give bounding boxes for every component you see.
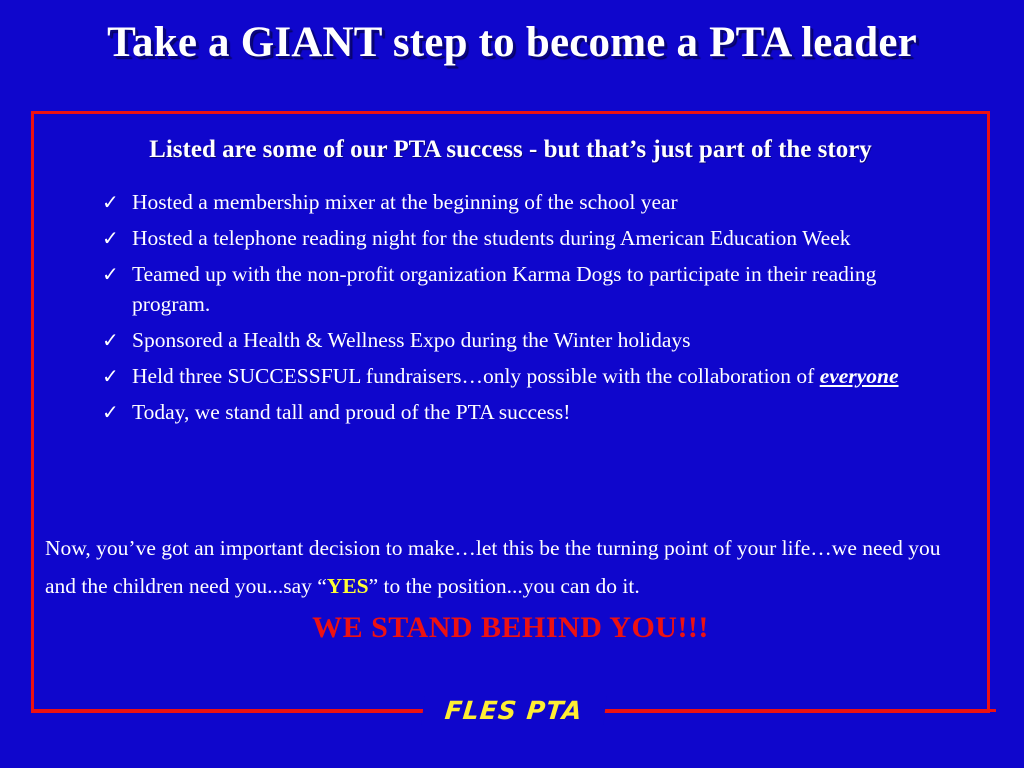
check-mark-icon: ✓ bbox=[102, 397, 132, 427]
emphasis-everyone: everyone bbox=[820, 364, 899, 388]
closing-highlight-yes: YES bbox=[327, 574, 369, 598]
call-to-action: WE STAND BEHIND YOU!!! bbox=[34, 611, 987, 645]
list-item: ✓ Held three SUCCESSFUL fundraisers…only… bbox=[102, 361, 962, 391]
footer-label: FLES PTA bbox=[421, 696, 606, 725]
subtitle: Listed are some of our PTA success - but… bbox=[34, 136, 987, 164]
list-item-text: Held three SUCCESSFUL fundraisers…only p… bbox=[132, 364, 820, 388]
achievements-list: ✓ Hosted a membership mixer at the begin… bbox=[102, 187, 962, 433]
content-box: Listed are some of our PTA success - but… bbox=[31, 111, 990, 713]
list-item: ✓ Hosted a telephone reading night for t… bbox=[102, 223, 962, 253]
list-item: ✓ Today, we stand tall and proud of the … bbox=[102, 397, 962, 427]
check-mark-icon: ✓ bbox=[102, 259, 132, 289]
list-item-label: Hosted a telephone reading night for the… bbox=[132, 223, 950, 253]
list-item-label: Teamed up with the non-profit organizati… bbox=[132, 259, 950, 319]
list-item: ✓ Teamed up with the non-profit organiza… bbox=[102, 259, 962, 319]
footer-rule-right bbox=[604, 709, 996, 712]
list-item-label: Sponsored a Health & Wellness Expo durin… bbox=[132, 325, 950, 355]
footer-band: FLES PTA bbox=[31, 693, 996, 727]
footer-rule-left bbox=[31, 709, 423, 712]
list-item-label: Hosted a membership mixer at the beginni… bbox=[132, 187, 950, 217]
check-mark-icon: ✓ bbox=[102, 361, 132, 391]
page-title: Take a GIANT step to become a PTA leader bbox=[0, 18, 1024, 67]
check-mark-icon: ✓ bbox=[102, 223, 132, 253]
check-mark-icon: ✓ bbox=[102, 325, 132, 355]
list-item-label: Today, we stand tall and proud of the PT… bbox=[132, 397, 950, 427]
closing-paragraph: Now, you’ve got an important decision to… bbox=[45, 529, 975, 605]
list-item: ✓ Hosted a membership mixer at the begin… bbox=[102, 187, 962, 217]
list-item-label: Held three SUCCESSFUL fundraisers…only p… bbox=[132, 361, 950, 391]
closing-text-part2: ” to the position...you can do it. bbox=[369, 574, 640, 598]
list-item: ✓ Sponsored a Health & Wellness Expo dur… bbox=[102, 325, 962, 355]
check-mark-icon: ✓ bbox=[102, 187, 132, 217]
